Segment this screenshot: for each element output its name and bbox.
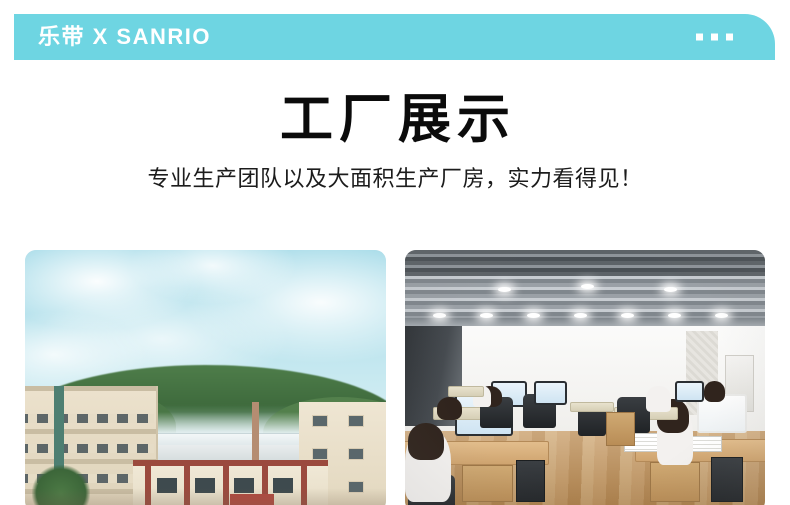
factory-showcase-page: 乐带 X SANRIO 工厂展示 专业生产团队以及大面积生产厂房，实力看得见！ bbox=[0, 0, 790, 505]
chimney bbox=[252, 402, 259, 460]
window bbox=[312, 448, 328, 460]
brand-title: 乐带 X SANRIO bbox=[38, 26, 211, 48]
heading-block: 工厂展示 专业生产团队以及大面积生产厂房，实力看得见！ bbox=[0, 92, 790, 192]
floor-band-1 bbox=[25, 429, 156, 434]
dot-3 bbox=[726, 34, 733, 41]
dot-2 bbox=[711, 34, 718, 41]
page-title: 工厂展示 bbox=[0, 92, 790, 148]
brand-header-bar: 乐带 X SANRIO bbox=[14, 14, 775, 60]
window bbox=[312, 415, 328, 427]
window-row-2 bbox=[25, 444, 154, 453]
dot-1 bbox=[696, 34, 703, 41]
window bbox=[348, 415, 364, 427]
factory-exterior-photo[interactable] bbox=[25, 250, 386, 505]
window bbox=[348, 448, 364, 460]
photo-vignette bbox=[405, 250, 766, 505]
window-row-1 bbox=[25, 414, 154, 423]
office-interior-photo[interactable] bbox=[405, 250, 766, 505]
photo-gallery bbox=[25, 250, 765, 505]
page-subtitle: 专业生产团队以及大面积生产厂房，实力看得见！ bbox=[0, 166, 790, 192]
roof-band bbox=[25, 386, 156, 391]
more-dots-icon[interactable] bbox=[696, 34, 733, 41]
ground-shadow bbox=[25, 488, 386, 505]
